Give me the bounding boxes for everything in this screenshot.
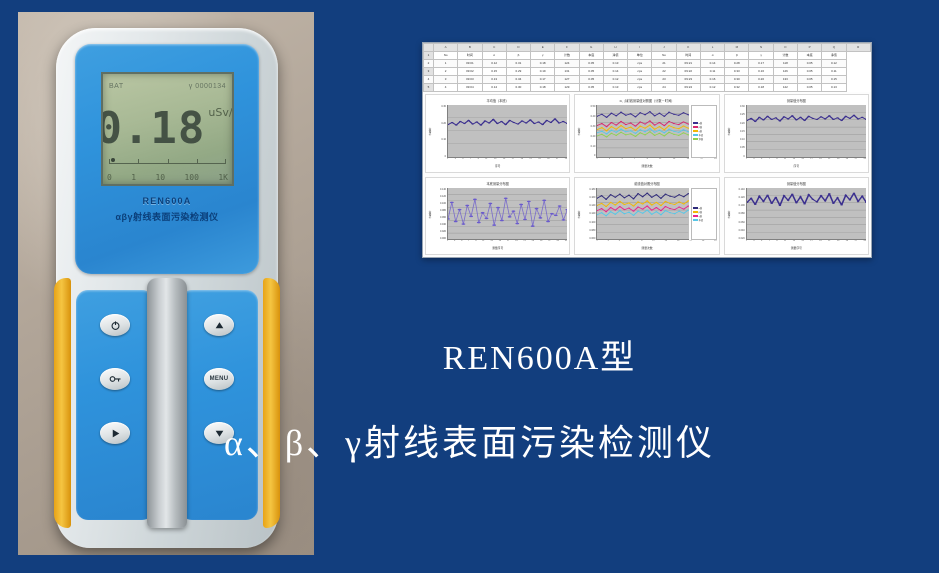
table-header-row: ABCDEFGHIJKLMNOPQR — [424, 44, 871, 52]
mini-chart-title: α、β射线测量值对照图（计数－时间） — [577, 97, 716, 105]
y-tick-label: 0.000 — [440, 237, 446, 240]
lcd-bargraph-marker — [111, 158, 115, 162]
lcd-scale-1k: 1K — [218, 173, 228, 182]
mini-chart-x-axis-label: 测量次数 — [577, 164, 716, 170]
mini-chart: 测量值分布图计数率0.300.250.200.150.100.050135791… — [724, 94, 869, 173]
table-cell: 126 — [773, 68, 797, 76]
table-col-header: J — [652, 44, 676, 52]
table-cell: 0.11 — [700, 68, 724, 76]
table-cell: 09:22 — [676, 68, 700, 76]
table-row-header: 1 — [424, 52, 434, 60]
mini-chart: α、β射线测量值对照图（计数－时间）计数率0.500.400.300.200.1… — [574, 94, 719, 173]
table-cell: 计数 — [555, 52, 579, 60]
y-tick-label: 0.080 — [739, 212, 745, 215]
table-cell: 0.18 — [531, 84, 555, 92]
table-cell: 0.13 — [603, 60, 627, 68]
lcd-battery-indicator: BAT — [109, 83, 124, 90]
table-cell: 0.13 — [482, 76, 506, 84]
table-cell: 0.30 — [506, 84, 530, 92]
y-tick-label: 0.040 — [440, 223, 446, 226]
table-row-header: 5 — [424, 84, 434, 92]
table-cell: 0.05 — [579, 76, 603, 84]
table-cell: 0.13 — [603, 84, 627, 92]
table-row-header: 2 — [424, 60, 434, 68]
table-cell: 时间 — [458, 52, 482, 60]
table-cell: 122 — [773, 84, 797, 92]
table-row: 5409:040.140.300.181290.050.13cps2409:24… — [424, 84, 871, 92]
y-tick-label: 0.50 — [591, 105, 596, 108]
table-cell: 0.05 — [797, 84, 821, 92]
table-cell: 0.05 — [797, 76, 821, 84]
legend-swatch — [693, 215, 698, 217]
rubber-grip-left — [54, 278, 71, 528]
mini-chart: 平均值（本底）计数率0.300.200.10013579111315171921… — [425, 94, 570, 173]
table-cell: 2 — [434, 68, 458, 76]
mini-chart-plot-area — [447, 188, 567, 241]
triangle-up-icon — [214, 320, 225, 331]
rubber-grip-right — [263, 278, 280, 528]
mini-chart: 射线值对照分布图计数率0.1800.1600.1400.1200.1000.08… — [574, 177, 719, 256]
measurement-data-table: ABCDEFGHIJKLMNOPQR 1No时间αβγ计数本底净值单位No时间α… — [423, 43, 871, 92]
mini-chart-plot-area — [746, 188, 866, 241]
table-cell: 22 — [652, 68, 676, 76]
table-cell: β — [725, 52, 749, 60]
y-tick-label: 0.10 — [591, 145, 596, 148]
table-cell: 0.12 — [603, 76, 627, 84]
mini-chart-legend: α值β值γ值本底净值 — [691, 105, 717, 158]
table-cell: 0.05 — [797, 60, 821, 68]
spreadsheet-table-region: ABCDEFGHIJKLMNOPQR 1No时间αβγ计数本底净值单位No时间α… — [423, 43, 871, 92]
table-row-header: 4 — [424, 76, 434, 84]
mini-chart-x-axis-label: 测量序号 — [428, 246, 567, 252]
table-cell: 09:23 — [676, 76, 700, 84]
mini-chart-x-axis-label: 测量次数 — [577, 246, 716, 252]
mini-chart-title: 射线值对照分布图 — [577, 180, 716, 188]
table-cell: 0.28 — [725, 60, 749, 68]
table-row: 4309:030.130.340.171270.050.12cps2309:23… — [424, 76, 871, 84]
table-cell: 0.13 — [822, 84, 846, 92]
table-row: 3209:020.150.290.191310.050.14cps2209:22… — [424, 68, 871, 76]
table-cell: cps — [628, 84, 652, 92]
mini-chart-y-ticks: 0.300.200.100 — [434, 105, 447, 158]
table-cell: 0.15 — [822, 76, 846, 84]
table-cell: 0.05 — [579, 60, 603, 68]
mini-chart-y-axis-label: 计数率 — [428, 105, 434, 158]
device-description-label: αβγ射线表面污染检测仪 — [75, 210, 259, 223]
table-cell: α — [482, 52, 506, 60]
y-tick-label: 0.060 — [739, 221, 745, 224]
y-tick-label: 0.040 — [739, 229, 745, 232]
table-cell: 0.12 — [700, 84, 724, 92]
table-cell: 0.12 — [482, 60, 506, 68]
table-cell: 131 — [555, 68, 579, 76]
table-cell: 0.16 — [700, 76, 724, 84]
mini-chart-plot-area — [596, 105, 688, 158]
table-cell: 0.14 — [700, 60, 724, 68]
y-tick-label: 0.15 — [740, 130, 745, 133]
table-col-header: H — [603, 44, 627, 52]
table-cell: 本底 — [797, 52, 821, 60]
mini-chart-y-ticks: 0.1400.1200.1000.0800.0600.0400.020 — [733, 188, 746, 241]
table-cell: 0.14 — [482, 84, 506, 92]
y-tick-label: 0.080 — [589, 229, 595, 232]
legend-swatch — [693, 134, 698, 136]
table-cell: 净值 — [822, 52, 846, 60]
y-tick-label: 0.10 — [441, 138, 446, 141]
keypad-right: MENU 有限公司 — [180, 290, 258, 520]
legend-swatch — [693, 122, 698, 124]
table-cell: cps — [628, 60, 652, 68]
table-cell: cps — [628, 76, 652, 84]
radiation-detector-device: BAT γ 0000134 0.18 uSv/h — [56, 28, 278, 548]
lcd-scale-1: 1 — [131, 173, 136, 182]
lcd-counter-readout: γ 0000134 — [189, 83, 226, 90]
y-tick-label: 0.020 — [440, 230, 446, 233]
table-cell: cps — [628, 68, 652, 76]
table-cell: 0.15 — [482, 68, 506, 76]
y-tick-label: 0.30 — [441, 105, 446, 108]
product-title-line1-text: REN600A型 — [303, 340, 637, 377]
lcd-main-readout: 0.18 uSv/h — [103, 98, 232, 160]
y-tick-label: 0.060 — [440, 216, 446, 219]
table-cell: γ — [531, 52, 555, 60]
table-cell: 1 — [434, 60, 458, 68]
y-tick-label: 0.30 — [591, 125, 596, 128]
legend-swatch — [693, 126, 698, 128]
table-cell: 0.30 — [725, 76, 749, 84]
mini-chart-plot-area — [447, 105, 567, 158]
table-cell: 129 — [555, 84, 579, 92]
lcd-scale-labels: 0 1 10 100 1K — [107, 173, 228, 182]
y-tick-label: 0.20 — [591, 135, 596, 138]
product-title-line1: REN600A型 — [0, 330, 939, 379]
y-tick-label: 0.140 — [739, 188, 745, 191]
mini-chart-x-axis-label: 序号 — [727, 164, 866, 170]
table-cell: 127 — [555, 76, 579, 84]
mini-chart-y-ticks: 0.500.400.300.200.100 — [583, 105, 596, 158]
table-col-header: Q — [822, 44, 846, 52]
table-cell: 0.16 — [749, 68, 773, 76]
mini-chart-title: 测量值分布图 — [727, 180, 866, 188]
mini-chart-y-axis-label: 计数率 — [428, 188, 434, 241]
device-handle-strap — [147, 278, 187, 528]
table-cell: 21 — [652, 60, 676, 68]
table-col-header: R — [846, 44, 870, 52]
table-cell: 0.32 — [725, 84, 749, 92]
y-tick-label: 0.160 — [589, 196, 595, 199]
lcd-value: 0.18 — [101, 107, 205, 151]
product-title-line2-text: α、β、γ射线表面污染检测仪 — [224, 423, 715, 463]
lcd-status-bar: BAT γ 0000134 — [109, 78, 226, 94]
y-tick-label: 0.140 — [589, 204, 595, 207]
table-cell: 0.18 — [531, 60, 555, 68]
table-cell: 09:02 — [458, 68, 482, 76]
table-cell: 4 — [434, 84, 458, 92]
table-col-header: M — [725, 44, 749, 52]
table-cell: β — [506, 52, 530, 60]
table-cell: 0.12 — [822, 60, 846, 68]
chart-grid: 平均值（本底）计数率0.300.200.10013579111315171921… — [423, 92, 871, 257]
y-tick-label: 0 — [594, 154, 595, 157]
table-cell: 0.33 — [725, 68, 749, 76]
mini-chart-y-axis-label: 计数率 — [727, 188, 733, 241]
y-tick-label: 0.020 — [739, 237, 745, 240]
y-tick-label: 0.100 — [440, 202, 446, 205]
table-col-header: F — [555, 44, 579, 52]
table-cell: 0.34 — [506, 76, 530, 84]
table-cell: 0.05 — [797, 68, 821, 76]
table-cell: 124 — [555, 60, 579, 68]
y-tick-label: 0.10 — [740, 138, 745, 141]
y-tick-label: 0.120 — [739, 196, 745, 199]
table-cell: 0.19 — [531, 68, 555, 76]
product-photo: BAT γ 0000134 0.18 uSv/h — [18, 12, 314, 555]
y-tick-label: 0.20 — [441, 122, 446, 125]
mini-chart-x-axis-label: 序号 — [428, 164, 567, 170]
table-cell: 133 — [773, 76, 797, 84]
table-cell: 09:24 — [676, 84, 700, 92]
table-col-header: O — [773, 44, 797, 52]
mini-chart-y-axis-label: 计数率 — [727, 105, 733, 158]
table-cell: 单位 — [628, 52, 652, 60]
table-col-header: K — [676, 44, 700, 52]
table-cell: 0.20 — [749, 76, 773, 84]
mini-chart-title: 本底测量分布图 — [428, 180, 567, 188]
mini-chart-title: 平均值（本底） — [428, 97, 567, 105]
table-col-header: I — [628, 44, 652, 52]
lcd-bargraph — [109, 158, 226, 164]
y-tick-label: 0.100 — [739, 204, 745, 207]
table-cell: No — [434, 52, 458, 60]
y-tick-label: 0.40 — [591, 115, 596, 118]
lcd-display: BAT γ 0000134 0.18 uSv/h — [101, 72, 234, 186]
mini-chart-y-ticks: 0.300.250.200.150.100.050 — [733, 105, 746, 158]
keypad-left: 天津恒达 — [76, 290, 154, 520]
table-cell: 本底 — [579, 52, 603, 60]
y-tick-label: 0 — [445, 155, 446, 158]
table-cell: 23 — [652, 76, 676, 84]
table-col-header: A — [434, 44, 458, 52]
y-tick-label: 0.180 — [589, 188, 595, 191]
legend-label: 净值 — [699, 137, 703, 141]
lcd-scale-100: 100 — [184, 173, 198, 182]
table-cell: 0.11 — [822, 68, 846, 76]
table-cell: 3 — [434, 76, 458, 84]
table-cell: 09:01 — [458, 60, 482, 68]
table-cell: 计数 — [773, 52, 797, 60]
table-row: 1No时间αβγ计数本底净值单位No时间αβγ计数本底净值 — [424, 52, 871, 60]
legend-swatch — [693, 219, 698, 221]
mini-chart-x-axis-label: 测量序号 — [727, 246, 866, 252]
table-col-header: G — [579, 44, 603, 52]
software-screenshot-panel: ABCDEFGHIJKLMNOPQR 1No时间αβγ计数本底净值单位No时间α… — [422, 42, 872, 258]
lcd-scale-10: 10 — [155, 173, 165, 182]
y-tick-label: 0.100 — [589, 221, 595, 224]
table-col-header: E — [531, 44, 555, 52]
y-tick-label: 0.120 — [440, 195, 446, 198]
mini-chart: 测量值分布图计数率0.1400.1200.1000.0800.0600.0400… — [724, 177, 869, 256]
mini-chart-legend: α值β值γ值本底 — [691, 188, 717, 241]
table-col-header: P — [797, 44, 821, 52]
legend-swatch — [693, 130, 698, 132]
mini-chart-y-axis-label: 计数率 — [577, 188, 583, 241]
legend-entry: 本底 — [693, 218, 715, 222]
table-cell: 0.17 — [531, 76, 555, 84]
table-col-header: N — [749, 44, 773, 52]
table-cell: 0.05 — [579, 84, 603, 92]
y-tick-label: 0.25 — [740, 113, 745, 116]
mini-chart-y-ticks: 0.1400.1200.1000.0800.0600.0400.0200.000 — [434, 188, 447, 241]
y-tick-label: 0.080 — [440, 209, 446, 212]
legend-swatch — [693, 207, 698, 209]
y-tick-label: 0.20 — [740, 122, 745, 125]
table-cell: 时间 — [676, 52, 700, 60]
power-icon — [110, 320, 121, 331]
table-cell: 118 — [773, 60, 797, 68]
lcd-scale-0: 0 — [107, 173, 112, 182]
table-cell: 24 — [652, 84, 676, 92]
mini-chart-title: 测量值分布图 — [727, 97, 866, 105]
slide-canvas: BAT γ 0000134 0.18 uSv/h — [0, 0, 939, 573]
table-cell: 0.18 — [749, 84, 773, 92]
legend-entry: 净值 — [693, 137, 715, 141]
table-cell: 0.14 — [603, 68, 627, 76]
lcd-unit: uSv/h — [208, 106, 234, 119]
mini-chart-y-axis-label: 计数率 — [577, 105, 583, 158]
device-model-label: REN600A — [75, 196, 259, 206]
table-cell: 净值 — [603, 52, 627, 60]
table-cell: 0.05 — [579, 68, 603, 76]
table-cell: α — [700, 52, 724, 60]
y-tick-label: 0.060 — [589, 237, 595, 240]
mini-chart-y-ticks: 0.1800.1600.1400.1200.1000.0800.060 — [583, 188, 596, 241]
table-row-header: 3 — [424, 68, 434, 76]
table-col-header — [424, 44, 434, 52]
y-tick-label: 0.120 — [589, 212, 595, 215]
table-col-header: C — [482, 44, 506, 52]
y-tick-label: 0.05 — [740, 146, 745, 149]
y-tick-label: 0.140 — [440, 188, 446, 191]
mini-chart-plot-area — [746, 105, 866, 158]
table-cell: γ — [749, 52, 773, 60]
table-col-header: L — [700, 44, 724, 52]
legend-label: 本底 — [699, 218, 703, 222]
table-cell: 09:03 — [458, 76, 482, 84]
table-col-header: D — [506, 44, 530, 52]
mini-chart-plot-area — [596, 188, 688, 241]
table-cell: 0.31 — [506, 60, 530, 68]
legend-swatch — [693, 138, 698, 140]
table-cell: 09:21 — [676, 60, 700, 68]
product-title-line2: α、β、γ射线表面污染检测仪 — [0, 414, 939, 466]
table-cell: 0.29 — [506, 68, 530, 76]
table-row: 2109:010.120.310.181240.050.13cps2109:21… — [424, 60, 871, 68]
table-col-header: B — [458, 44, 482, 52]
table-cell: 0.17 — [749, 60, 773, 68]
table-cell: 09:04 — [458, 84, 482, 92]
legend-swatch — [693, 211, 698, 213]
device-faceplate: BAT γ 0000134 0.18 uSv/h — [75, 44, 259, 274]
table-cell: No — [652, 52, 676, 60]
mini-chart: 本底测量分布图计数率0.1400.1200.1000.0800.0600.040… — [425, 177, 570, 256]
y-tick-label: 0 — [743, 155, 744, 158]
y-tick-label: 0.30 — [740, 105, 745, 108]
